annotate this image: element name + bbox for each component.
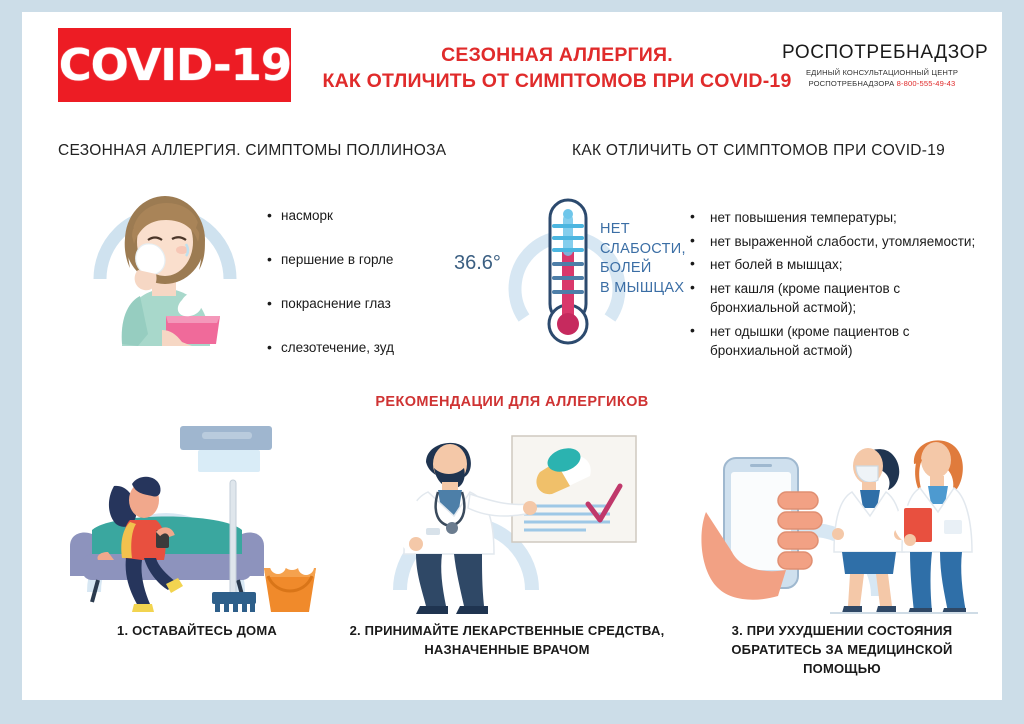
recommendation-caption-2: 2. ПРИНИМАЙТЕ ЛЕКАРСТВЕННЫЕ СРЕДСТВА, НА…	[342, 621, 672, 659]
page-title: СЕЗОННАЯ АЛЛЕРГИЯ. КАК ОТЛИЧИТЬ ОТ СИМПТ…	[322, 42, 792, 94]
worker1-shoe-left	[842, 606, 862, 613]
worker2-leg-left	[910, 552, 932, 612]
covid-19-badge: COVID-19	[58, 28, 291, 102]
recommendation-card-3: 3. ПРИ УХУДШЕНИИ СОСТОЯНИЯ ОБРАТИТЕСЬ ЗА…	[682, 420, 1002, 678]
caption-line2: ОБРАТИТЕСЬ ЗА МЕДИЦИНСКОЙ	[682, 640, 1002, 659]
worker1-leg-right	[876, 574, 892, 606]
caption-line2: НАЗНАЧЕННЫЕ ВРАЧОМ	[342, 640, 672, 659]
rospotrebnadzor-logo: РОСПОТРЕБНАДЗОР ЕДИНЫЙ КОНСУЛЬТАЦИОННЫЙ …	[782, 42, 982, 89]
worker1-shoe-right	[876, 606, 896, 613]
allergic-woman-illustration	[70, 184, 260, 349]
doctor-hand-right	[523, 501, 537, 515]
mercury-bulb	[557, 313, 579, 335]
doctor-leg-right	[454, 554, 484, 606]
doctor-illustration	[342, 420, 672, 615]
hotline-phone-number: 8-800-555-49-43	[897, 79, 956, 88]
stethoscope-chestpiece	[446, 522, 458, 534]
covid-differences-list: нет повышения температуры; нет выраженно…	[682, 208, 982, 365]
doctor-hand-left	[409, 537, 423, 551]
tissue-in-hand	[136, 244, 165, 275]
recommendations-title: РЕКОМЕНДАЦИИ ДЛЯ АЛЛЕРГИКОВ	[22, 394, 1002, 410]
air-conditioner-vent	[202, 432, 252, 439]
list-item: першение в горле	[267, 252, 467, 267]
worker1-leg-left	[848, 574, 864, 606]
worker1-skirt	[842, 552, 896, 574]
covid-19-badge-label: COVID-19	[58, 40, 290, 91]
worker2-leg-right	[940, 552, 966, 612]
section-heading-covid: КАК ОТЛИЧИТЬ ОТ СИМПТОМОВ ПРИ COVID-19	[572, 142, 945, 160]
caption-line1: 3. ПРИ УХУДШЕНИИ СОСТОЯНИЯ	[682, 621, 1002, 640]
list-item: нет одышки (кроме пациентов с бронхиальн…	[682, 322, 982, 361]
thermometer-note-line4: В МЫШЦАХ	[600, 279, 686, 299]
poster-header: COVID-19 СЕЗОННАЯ АЛЛЕРГИЯ. КАК ОТЛИЧИТЬ…	[22, 12, 1002, 116]
woman-shoe-front	[132, 604, 154, 612]
page-title-line2: КАК ОТЛИЧИТЬ ОТ СИМПТОМОВ ПРИ COVID-19	[322, 68, 792, 94]
thermometer-note: НЕТ СЛАБОСТИ, БОЛЕЙ В МЫШЦАХ	[600, 220, 686, 298]
worker2-head	[921, 442, 951, 478]
mop-handle	[230, 480, 236, 596]
page-title-line1: СЕЗОННАЯ АЛЛЕРГИЯ.	[322, 42, 792, 68]
thermometer-note-line2: СЛАБОСТИ,	[600, 240, 686, 260]
logo-subtitle-line2: РОСПОТРЕБНАДЗОРА 8-800-555-49-43	[782, 78, 982, 89]
medical-help-svg	[682, 420, 1002, 615]
recommendation-caption-3: 3. ПРИ УХУДШЕНИИ СОСТОЯНИЯ ОБРАТИТЕСЬ ЗА…	[682, 621, 1002, 678]
worker1-hand-left	[832, 528, 844, 540]
list-item: покраснение глаз	[267, 296, 467, 311]
doctor-svg	[342, 420, 672, 615]
doctor-shoe-left	[416, 606, 448, 614]
section-heading-allergy: СЕЗОННАЯ АЛЛЕРГИЯ. СИМПТОМЫ ПОЛЛИНОЗА	[58, 142, 446, 160]
recommendation-card-1: 1. ОСТАВАЙТЕСЬ ДОМА	[52, 420, 342, 640]
stay-home-svg	[52, 420, 342, 615]
list-item: слезотечение, зуд	[267, 340, 467, 355]
doctor-leg-left	[416, 554, 446, 606]
worker2-hand	[904, 534, 916, 546]
smartphone-speaker	[750, 464, 772, 467]
temperature-value: 36.6°	[454, 252, 501, 275]
logo-title: РОСПОТРЕБНАДЗОР	[782, 42, 982, 64]
list-item: нет кашля (кроме пациентов с бронхиально…	[682, 279, 982, 318]
thermometer-note-line1: НЕТ	[600, 220, 686, 240]
list-item: нет выраженной слабости, утомляемости;	[682, 232, 982, 252]
caption-line3: ПОМОЩЬЮ	[682, 659, 1002, 678]
air-conditioner-airflow	[198, 450, 260, 472]
caption-line1: 1. ОСТАВАЙТЕСЬ ДОМА	[52, 621, 342, 640]
logo-subtitle: ЕДИНЫЙ КОНСУЛЬТАЦИОННЫЙ ЦЕНТР РОСПОТРЕБН…	[782, 67, 982, 89]
tissue-box-top	[166, 316, 220, 323]
medical-help-illustration	[682, 420, 1002, 615]
allergic-woman-svg	[70, 184, 260, 349]
logo-subtitle-org: РОСПОТРЕБНАДЗОРА	[809, 79, 895, 88]
thermometer-illustration: 36.6° НЕТ СЛАБОСТИ, БОЛЕЙ	[454, 190, 684, 355]
list-item: нет болей в мышцах;	[682, 255, 982, 275]
worker2-pocket	[944, 520, 962, 534]
logo-subtitle-line1: ЕДИНЫЙ КОНСУЛЬТАЦИОННЫЙ ЦЕНТР	[782, 67, 982, 78]
doctor-shoe-right	[456, 606, 488, 614]
caption-line1: 2. ПРИНИМАЙТЕ ЛЕКАРСТВЕННЫЕ СРЕДСТВА,	[342, 621, 672, 640]
stay-home-illustration	[52, 420, 342, 615]
recommendation-card-2: 2. ПРИНИМАЙТЕ ЛЕКАРСТВЕННЫЕ СРЕДСТВА, НА…	[342, 420, 672, 659]
allergy-symptoms-list: насморк першение в горле покраснение гла…	[267, 208, 467, 384]
thermometer-note-line3: БОЛЕЙ	[600, 259, 686, 279]
list-item: нет повышения температуры;	[682, 208, 982, 228]
recommendation-caption-1: 1. ОСТАВАЙТЕСЬ ДОМА	[52, 621, 342, 640]
poster-card: COVID-19 СЕЗОННАЯ АЛЛЕРГИЯ. КАК ОТЛИЧИТЬ…	[22, 12, 1002, 700]
coat-pocket	[426, 528, 440, 535]
thermometer-top-dot	[563, 209, 573, 219]
list-item: насморк	[267, 208, 467, 223]
